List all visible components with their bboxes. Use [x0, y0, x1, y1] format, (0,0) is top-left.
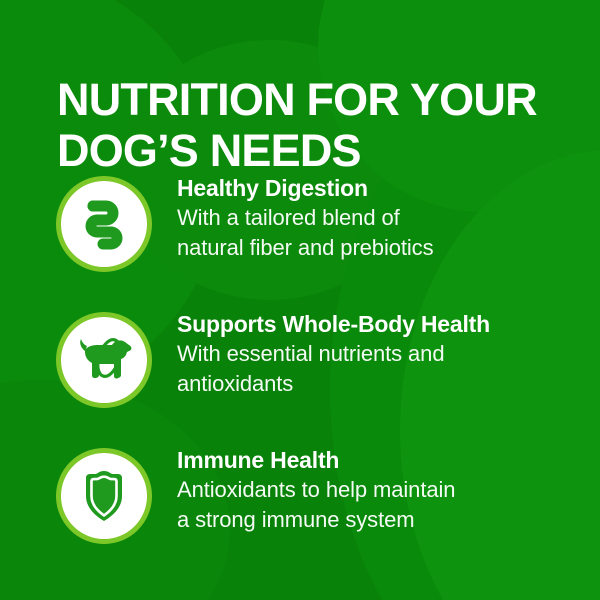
- feature-text-block: Immune Health Antioxidants to help maint…: [177, 446, 577, 535]
- intestine-icon: [56, 176, 152, 272]
- feature-heading: Immune Health: [177, 446, 577, 475]
- page-title: NUTRITION FOR YOUR DOG’S NEEDS: [57, 74, 567, 176]
- feature-body: With essential nutrients and antioxidant…: [177, 339, 577, 399]
- feature-heading: Supports Whole-Body Health: [177, 310, 577, 339]
- feature-heading: Healthy Digestion: [177, 174, 577, 203]
- feature-body: Antioxidants to help maintain a strong i…: [177, 475, 577, 535]
- feature-body: With a tailored blend of natural fiber a…: [177, 203, 577, 263]
- shield-icon: [56, 448, 152, 544]
- dog-orbit-icon: [56, 312, 152, 408]
- nutrition-poster: NUTRITION FOR YOUR DOG’S NEEDS Healthy D…: [0, 0, 600, 600]
- feature-text-block: Supports Whole-Body Health With essentia…: [177, 310, 577, 399]
- feature-text-block: Healthy Digestion With a tailored blend …: [177, 174, 577, 263]
